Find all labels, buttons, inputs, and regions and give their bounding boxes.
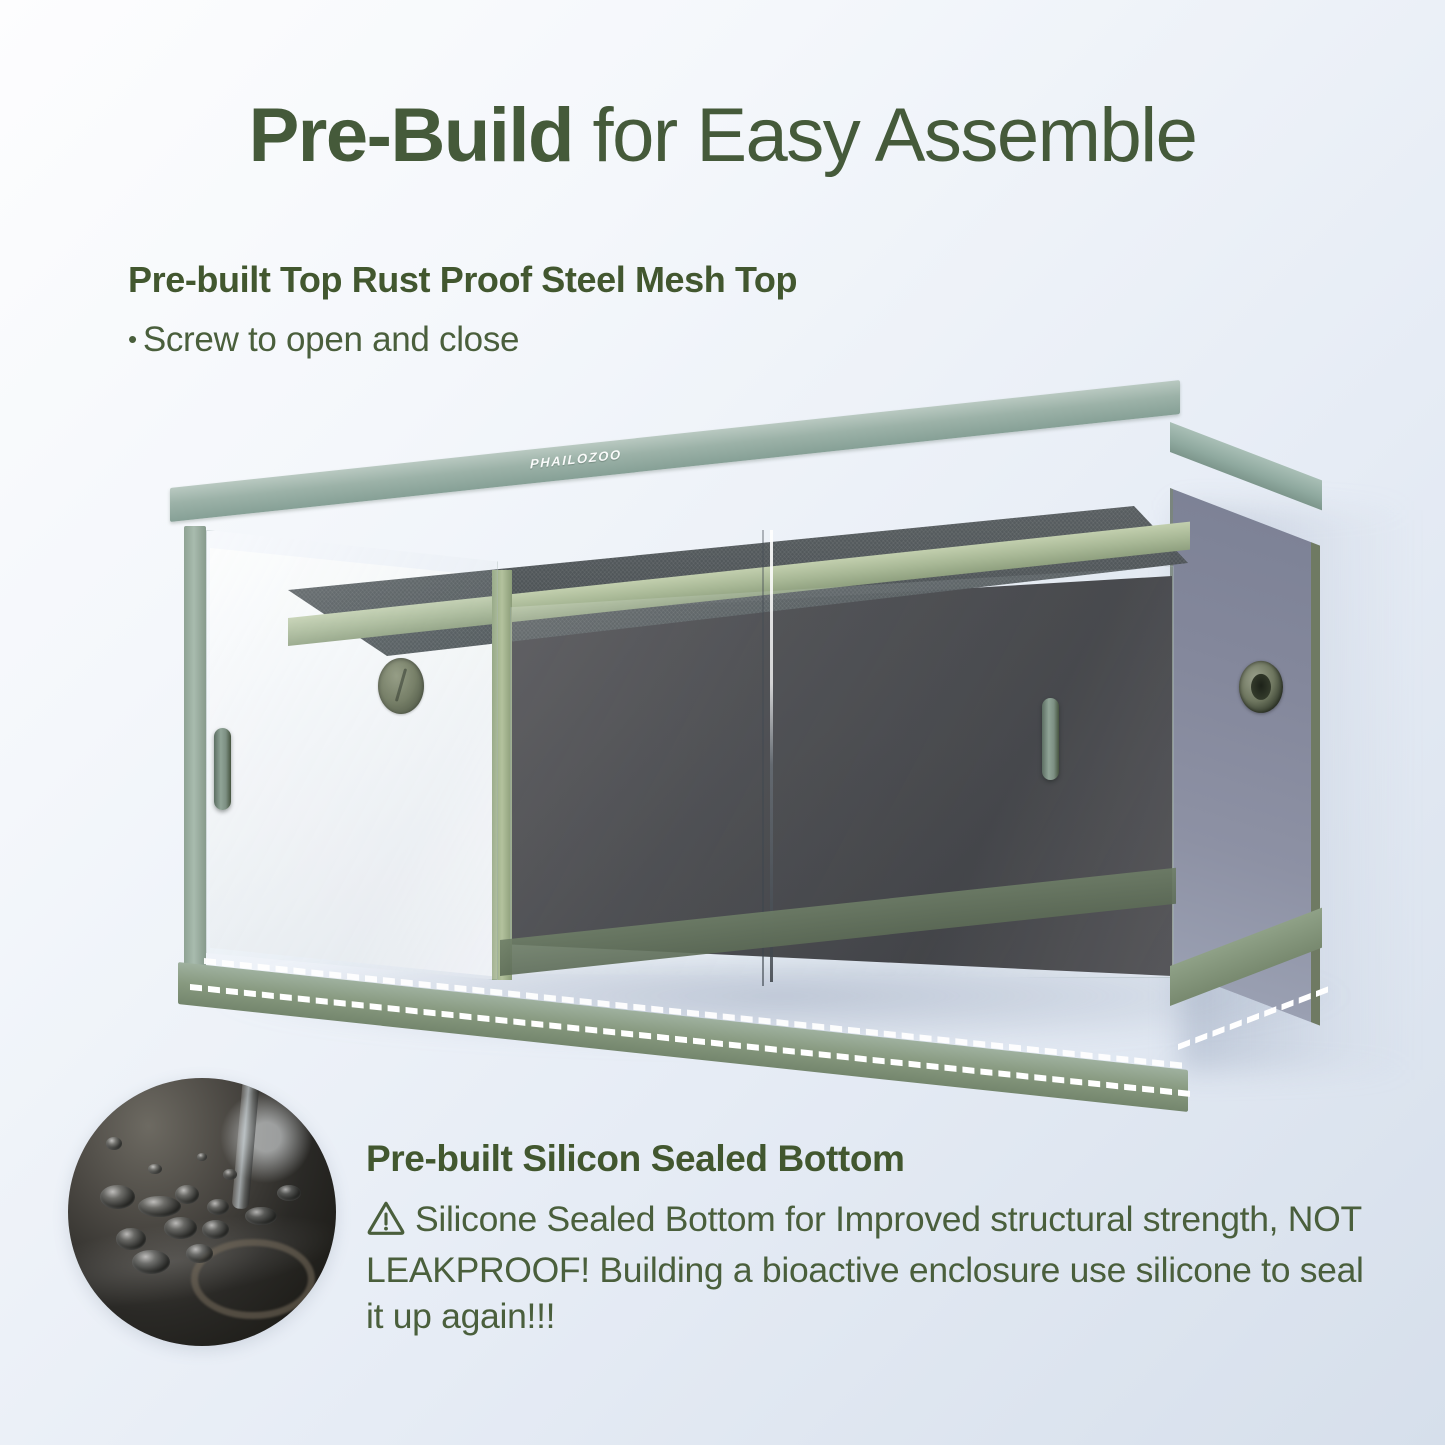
left-glass-door <box>206 530 498 980</box>
page-title-bold: Pre-Build <box>249 93 573 178</box>
bottom-feature-block: Pre-built Silicon Sealed Bottom Silicone… <box>366 1138 1376 1339</box>
door-handle-icon <box>214 728 231 810</box>
left-corner-post <box>184 526 206 982</box>
product-illustration: PHAILOZOO <box>0 340 1445 1100</box>
nozzle-icon <box>231 1083 259 1210</box>
silicone-photo-inset <box>68 1078 336 1346</box>
page-title-light: for Easy Assemble <box>573 93 1197 178</box>
seal-dash-front <box>190 984 1190 1097</box>
droplet <box>175 1185 199 1204</box>
droplet <box>277 1185 301 1201</box>
droplet <box>207 1199 228 1215</box>
warning-triangle-icon <box>366 1199 406 1247</box>
droplet <box>116 1228 145 1249</box>
top-frame-front: PHAILOZOO <box>170 380 1180 522</box>
door-handle-icon <box>1042 698 1059 780</box>
droplet <box>138 1196 181 1217</box>
bottom-feature-body: Silicone Sealed Bottom for Improved stru… <box>366 1199 1364 1336</box>
droplet <box>132 1250 170 1274</box>
droplet <box>223 1169 236 1180</box>
droplet <box>106 1137 122 1150</box>
top-feature-title: Pre-built Top Rust Proof Steel Mesh Top <box>128 258 797 301</box>
droplet <box>148 1164 161 1175</box>
brand-logo: PHAILOZOO <box>530 447 622 472</box>
vent-port-icon <box>1239 661 1283 713</box>
droplet <box>186 1244 213 1263</box>
reptile-enclosure: PHAILOZOO <box>170 380 1350 1060</box>
page-title: Pre-Build for Easy Assemble <box>0 96 1445 177</box>
droplet <box>100 1185 135 1209</box>
bottom-feature-title: Pre-built Silicon Sealed Bottom <box>366 1138 1376 1180</box>
bottom-feature-body-wrap: Silicone Sealed Bottom for Improved stru… <box>366 1196 1376 1339</box>
droplet <box>197 1153 208 1161</box>
droplet <box>202 1220 229 1239</box>
droplet <box>164 1217 196 1238</box>
